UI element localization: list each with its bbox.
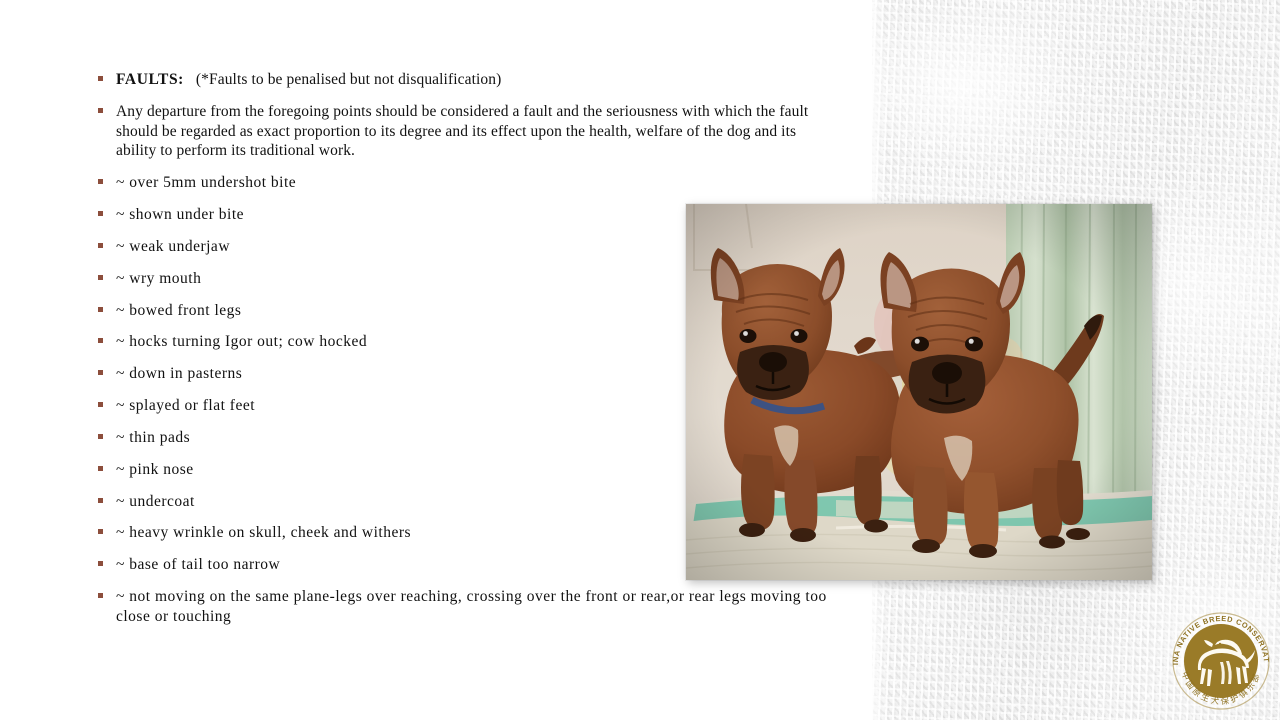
fault-text: ~ thin pads: [116, 429, 190, 446]
fault-text: ~ heavy wrinkle on skull, cheek and with…: [116, 524, 411, 541]
bullet-marker-icon: [98, 434, 103, 439]
bullet-marker-icon: [98, 370, 103, 375]
fault-text: ~ down in pasterns: [116, 365, 242, 382]
bullet-marker-icon: [98, 275, 103, 280]
faults-label: FAULTS:: [116, 71, 184, 88]
cnbc-club-logo: CNBC CHINA NATIVE BREED CONSERVATION CLU…: [1164, 604, 1278, 718]
bullet-marker-icon: [98, 108, 103, 113]
fault-text: ~ over 5mm undershot bite: [116, 174, 296, 191]
bullet-marker-icon: [98, 243, 103, 248]
bullet-marker-icon: [98, 338, 103, 343]
logo-emblem-icon: CNBC CHINA NATIVE BREED CONSERVATION CLU…: [1164, 604, 1278, 718]
fault-text: ~ splayed or flat feet: [116, 397, 255, 414]
list-item-fault-1: ~ over 5mm undershot bite: [98, 173, 828, 193]
fault-text: ~ pink nose: [116, 461, 194, 478]
fault-text: ~ bowed front legs: [116, 302, 241, 319]
puppies-photo: Two red-brown Chinese Chongqing dog pupp…: [686, 204, 1152, 580]
fault-text: ~ undercoat: [116, 493, 195, 510]
fault-text: ~ not moving on the same plane-legs over…: [116, 588, 827, 625]
fault-text: ~ shown under bite: [116, 206, 244, 223]
fault-text: ~ weak underjaw: [116, 238, 230, 255]
bullet-marker-icon: [98, 76, 103, 81]
bullet-marker-icon: [98, 179, 103, 184]
fault-text: ~ base of tail too narrow: [116, 556, 280, 573]
bullet-marker-icon: [98, 307, 103, 312]
fault-text: ~ hocks turning Igor out; cow hocked: [116, 333, 367, 350]
bullet-marker-icon: [98, 466, 103, 471]
list-item-heading: FAULTS: (*Faults to be penalised but not…: [98, 70, 828, 90]
bullet-marker-icon: [98, 593, 103, 598]
bullet-marker-icon: [98, 402, 103, 407]
bullet-marker-icon: [98, 211, 103, 216]
list-item-intro: Any departure from the foregoing points …: [98, 102, 828, 161]
list-item-fault-14: ~ not moving on the same plane-legs over…: [98, 587, 828, 627]
bullet-marker-icon: [98, 529, 103, 534]
intro-paragraph: Any departure from the foregoing points …: [116, 103, 808, 160]
fault-text: ~ wry mouth: [116, 270, 201, 287]
bullet-marker-icon: [98, 561, 103, 566]
slide-canvas: FAULTS: (*Faults to be penalised but not…: [0, 0, 1280, 720]
photo-illustration: [686, 204, 1152, 580]
bullet-marker-icon: [98, 498, 103, 503]
faults-note: (*Faults to be penalised but not disqual…: [196, 71, 501, 88]
